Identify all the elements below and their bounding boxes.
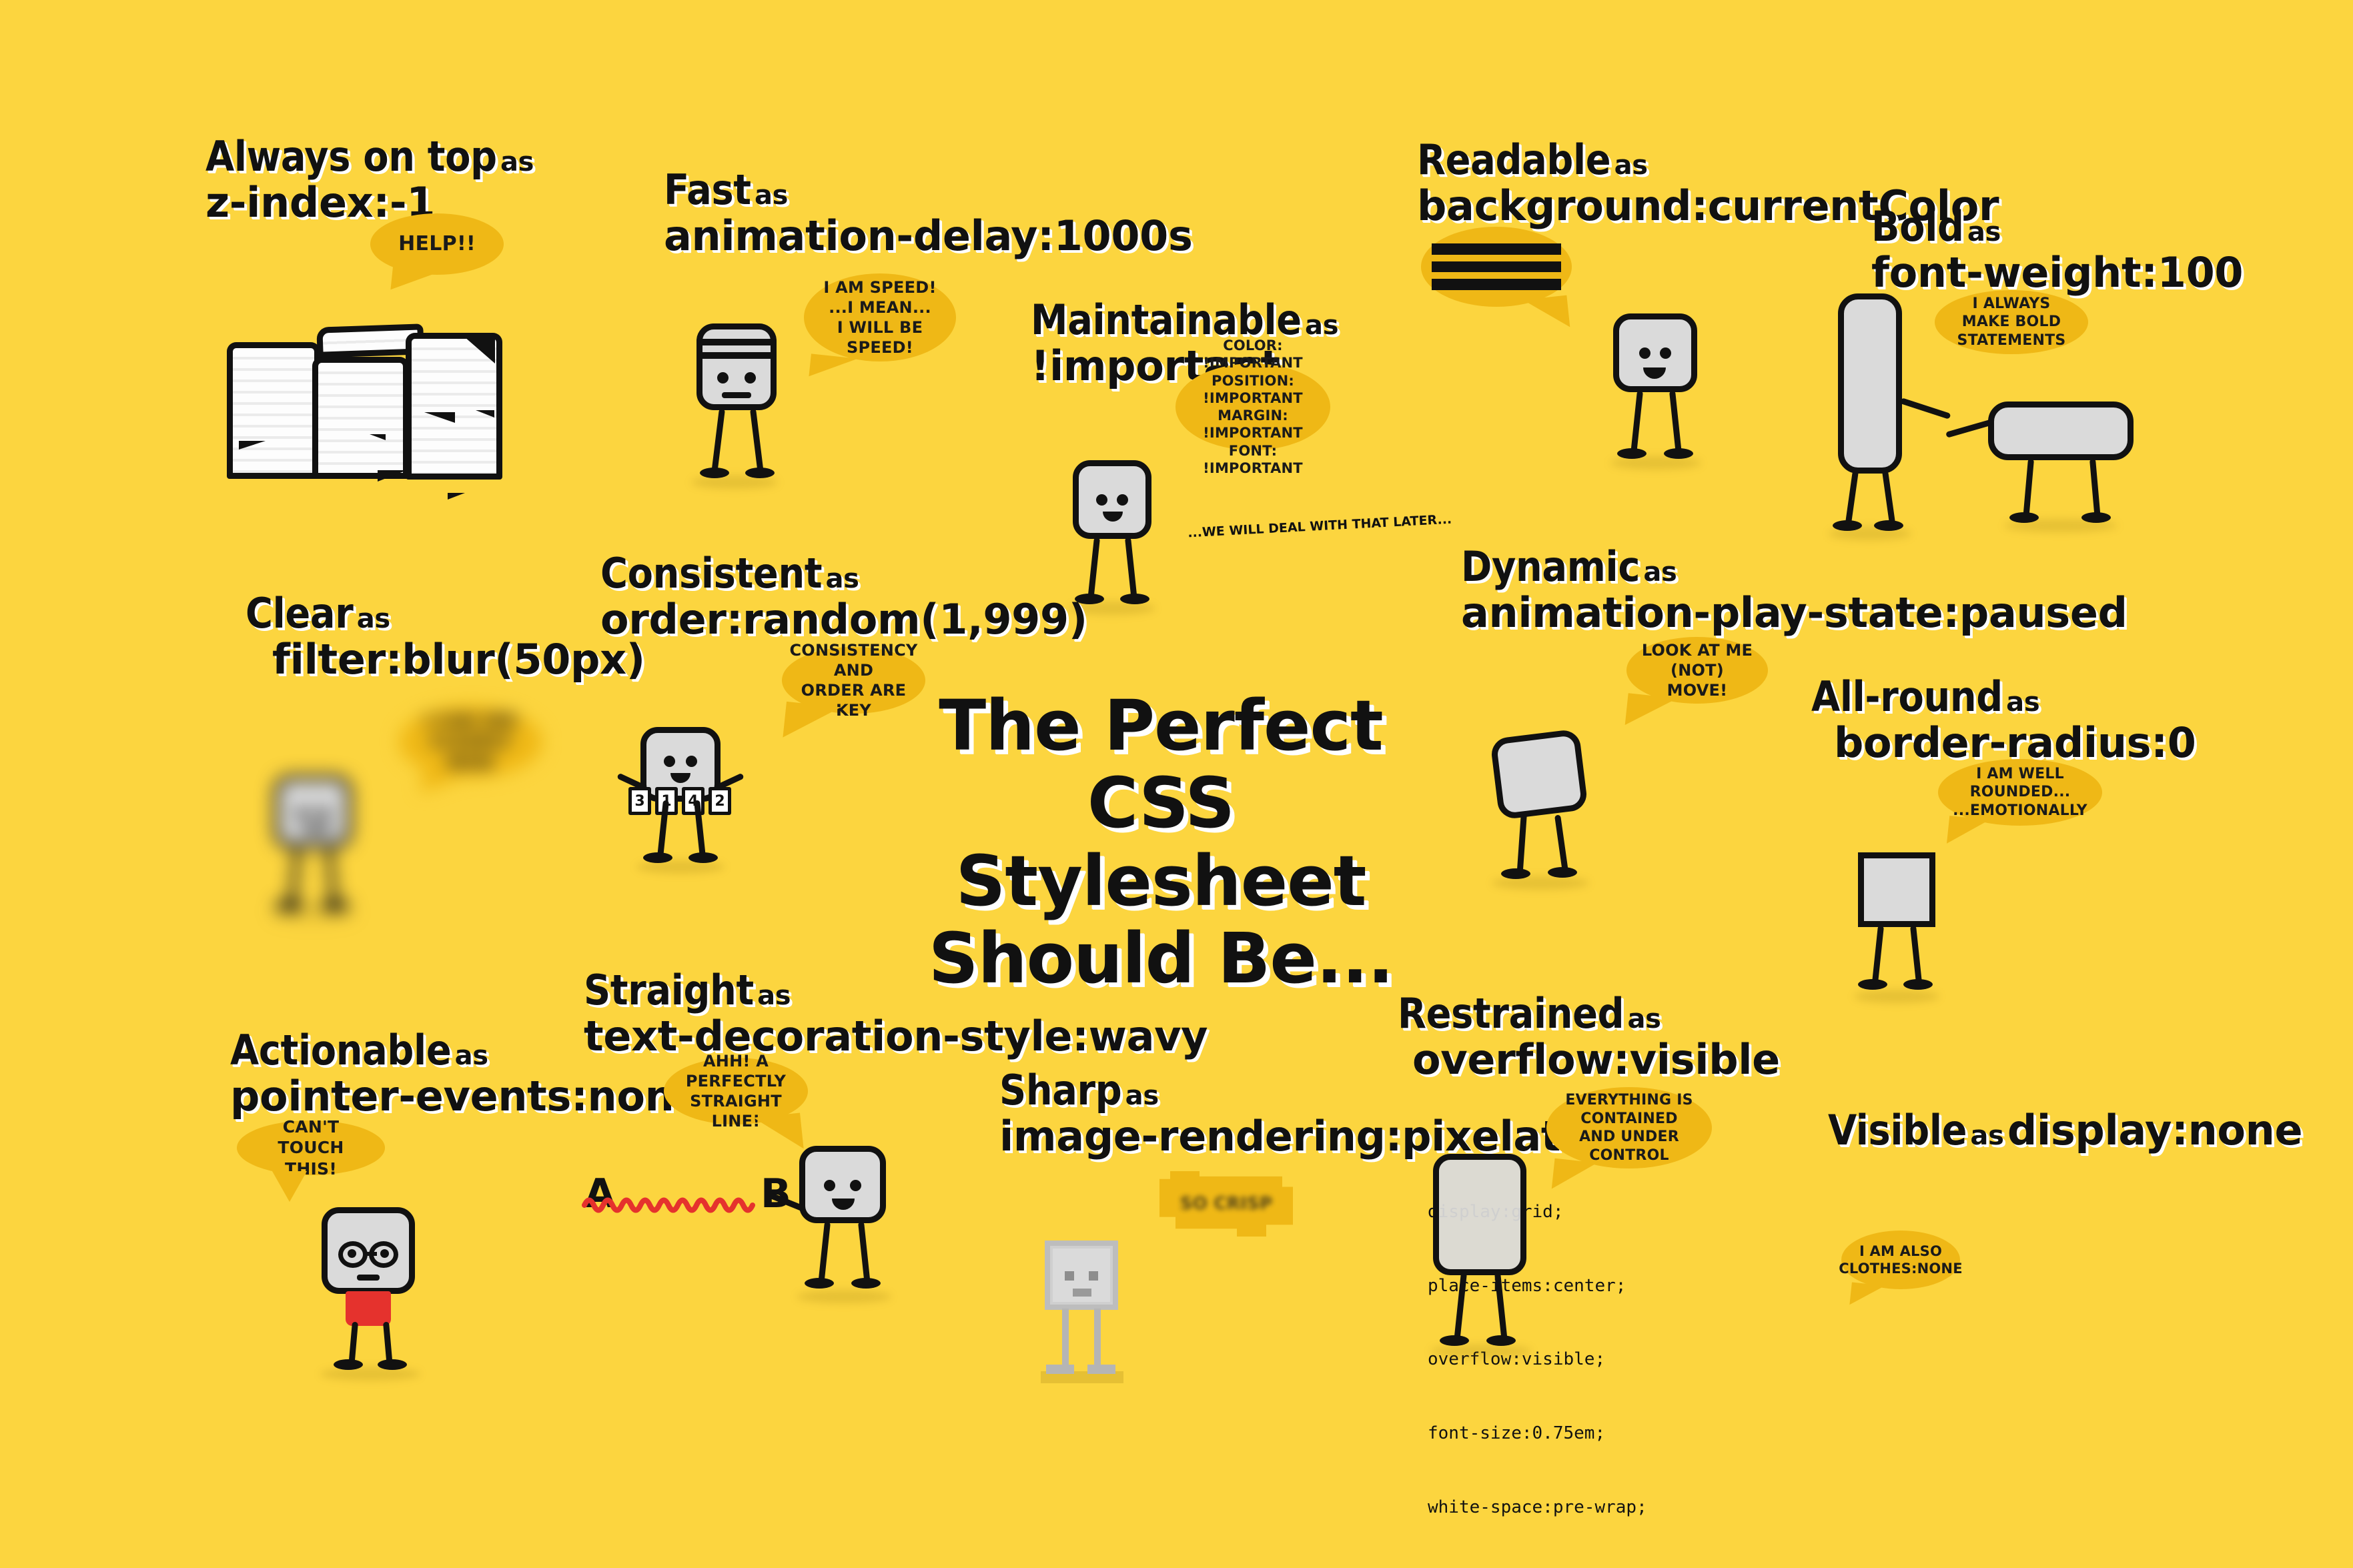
connector-label: as bbox=[2006, 687, 2039, 718]
bubble-actionable: Can't touch this! bbox=[237, 1120, 385, 1175]
heading-consistent: Consistent as order:random(1,999) bbox=[600, 550, 1087, 643]
right-leg bbox=[1910, 926, 1922, 984]
heading-visible: Visible as display:none bbox=[1828, 1107, 2302, 1153]
redaction-bar bbox=[1432, 243, 1561, 255]
bubble-line: statements bbox=[1957, 331, 2066, 350]
adjective-label: Bold bbox=[1871, 202, 1964, 251]
left-foot bbox=[1617, 448, 1646, 459]
adjective-label: Visible bbox=[1828, 1106, 1967, 1154]
left-foot bbox=[1833, 520, 1862, 531]
eye-triangle bbox=[476, 410, 494, 418]
bubble-tail bbox=[390, 267, 439, 294]
left-foot bbox=[1440, 1335, 1469, 1346]
character-body bbox=[1988, 402, 2134, 460]
bubble-line: font: !important bbox=[1185, 442, 1321, 478]
left-eye bbox=[664, 756, 675, 767]
speed-stripe bbox=[701, 339, 772, 345]
right-eye bbox=[1117, 494, 1128, 506]
eye-triangle bbox=[378, 470, 407, 482]
heading-clear: Clear as filter:blur(50px) bbox=[246, 590, 645, 683]
right-foot bbox=[1903, 979, 1933, 990]
ground-shadow bbox=[320, 1367, 420, 1381]
character-maintainable bbox=[1073, 460, 1151, 539]
connector-label: as bbox=[1628, 1004, 1661, 1034]
aside-maintainable: ...we will deal with that later... bbox=[1188, 512, 1452, 541]
heading-dynamic: Dynamic as animation-play-state:paused bbox=[1461, 544, 2128, 636]
property-label: filter:blur(50px) bbox=[272, 635, 645, 684]
right-foot bbox=[1120, 594, 1149, 604]
character-restrained bbox=[1433, 1154, 1526, 1275]
left-eye bbox=[1096, 494, 1107, 506]
character-body bbox=[322, 1207, 415, 1294]
bubble-line: So crisp bbox=[1180, 1193, 1273, 1215]
left-foot bbox=[1501, 868, 1530, 879]
character-body bbox=[1838, 293, 1902, 474]
bubble-tail bbox=[754, 1112, 804, 1153]
character-body bbox=[1073, 460, 1151, 539]
connector-label: as bbox=[1614, 150, 1648, 181]
left-leg bbox=[1630, 391, 1643, 454]
mouth bbox=[1643, 367, 1666, 379]
adjective-label: All-round bbox=[1811, 672, 2003, 721]
mouth bbox=[1860, 403, 1880, 413]
character-readable bbox=[1613, 313, 1697, 392]
character-body bbox=[1045, 1241, 1118, 1310]
title-line-2: CSS Stylesheet bbox=[894, 764, 1428, 920]
ground-shadow bbox=[1854, 990, 1939, 1003]
right-foot bbox=[1664, 448, 1693, 459]
left-eye bbox=[717, 372, 729, 383]
character-clear bbox=[274, 775, 352, 848]
left-leg bbox=[1872, 926, 1884, 984]
right-eye bbox=[380, 1249, 389, 1258]
mouth bbox=[1496, 742, 1519, 755]
right-leg bbox=[1554, 814, 1568, 874]
group-sharp-pixelated: So crisp bbox=[1034, 1167, 1314, 1394]
ground-shadow bbox=[1430, 1345, 1532, 1358]
adjective-label: Restrained bbox=[1398, 989, 1624, 1038]
left-foot bbox=[334, 1359, 363, 1370]
bubble-line: position: !important bbox=[1185, 372, 1321, 408]
left-eye bbox=[1065, 1271, 1074, 1281]
right-foot bbox=[851, 1278, 881, 1289]
character-bold-wide bbox=[1988, 402, 2134, 460]
mouth bbox=[1103, 512, 1123, 522]
bubble-readable bbox=[1421, 227, 1572, 307]
bubble-line: Can't touch this! bbox=[252, 1116, 370, 1179]
bubble-clear: I can see clearly now bbox=[399, 706, 542, 778]
left-eye bbox=[824, 1180, 835, 1191]
number-cards: 3 1 4 2 bbox=[628, 787, 731, 815]
bubble-tail bbox=[1947, 816, 1989, 848]
character-actionable bbox=[322, 1207, 415, 1294]
left-leg bbox=[1517, 812, 1527, 874]
group-clear-blurred: I can see clearly now bbox=[254, 694, 574, 920]
property-label: font-weight:100 bbox=[1871, 248, 2243, 297]
number-card: 3 bbox=[628, 787, 651, 815]
bubble-tail bbox=[1523, 295, 1570, 332]
character-dynamic bbox=[1494, 734, 1584, 815]
right-foot bbox=[688, 852, 718, 863]
mouth bbox=[1073, 1289, 1091, 1297]
right-foot bbox=[1874, 520, 1903, 531]
adjective-label: Dynamic bbox=[1461, 542, 1640, 591]
bubble-line: ...I mean... bbox=[829, 297, 931, 317]
connector-label: as bbox=[357, 604, 390, 634]
bubble-tail bbox=[783, 702, 841, 743]
mouth bbox=[722, 392, 751, 398]
right-leg bbox=[2089, 459, 2101, 518]
adjective-label: Readable bbox=[1417, 135, 1610, 184]
right-eye bbox=[745, 372, 756, 383]
code-line: white-space:pre-wrap; bbox=[1428, 1495, 1762, 1520]
heading-all-round: All-round as border-radius:0 bbox=[1811, 674, 2196, 766]
left-foot bbox=[700, 468, 729, 478]
code-line: font-size:0.75em; bbox=[1428, 1421, 1762, 1446]
right-leg bbox=[1094, 1309, 1101, 1369]
right-foot bbox=[1548, 867, 1577, 878]
property-label: pointer-events:none bbox=[230, 1072, 702, 1120]
bubble-line: clearly now bbox=[414, 731, 528, 773]
heading-fast: Fast as animation-delay:1000s bbox=[664, 167, 1193, 259]
connector-label: as bbox=[455, 1040, 488, 1071]
ground-shadow bbox=[1492, 876, 1589, 890]
ground-shadow bbox=[636, 860, 725, 874]
shorts bbox=[346, 1291, 391, 1326]
number-card: 4 bbox=[682, 787, 704, 815]
bubble-bold: I always make bold statements bbox=[1935, 290, 2088, 354]
bubble-line: HELP!! bbox=[398, 231, 476, 257]
bubble-all-round: I am well rounded... ...emotionally bbox=[1938, 759, 2102, 826]
left-arm bbox=[1945, 419, 1993, 438]
bubble-tail bbox=[272, 1171, 307, 1202]
character-paper-stack bbox=[227, 303, 507, 480]
character-all-round bbox=[1858, 852, 1935, 927]
bubble-fast: I am speed! ...I mean... I will be speed… bbox=[804, 273, 956, 361]
left-leg bbox=[1062, 1309, 1069, 1369]
right-foot bbox=[1087, 1365, 1115, 1374]
bubble-line: clothes:none bbox=[1839, 1260, 1963, 1277]
paper-left bbox=[227, 342, 320, 479]
corner-fold bbox=[464, 337, 495, 363]
right-foot bbox=[320, 900, 350, 911]
right-leg bbox=[1125, 538, 1137, 599]
right-eye bbox=[686, 756, 697, 767]
character-body bbox=[799, 1146, 886, 1223]
connector-label: as bbox=[755, 180, 788, 211]
left-foot bbox=[805, 1278, 834, 1289]
mouth bbox=[357, 1275, 380, 1281]
bubble-tail bbox=[1625, 693, 1678, 730]
adjective-label: Straight bbox=[584, 966, 754, 1014]
left-foot bbox=[1858, 979, 1887, 990]
right-leg bbox=[1882, 470, 1895, 525]
right-leg bbox=[858, 1222, 871, 1283]
right-foot bbox=[378, 1359, 407, 1370]
adjective-label: Sharp bbox=[999, 1066, 1121, 1114]
character-bold-tall bbox=[1838, 293, 1902, 474]
bubble-line: I am speed! bbox=[823, 277, 936, 297]
bubble-tail bbox=[421, 770, 470, 797]
bubble-sharp: So crisp bbox=[1159, 1171, 1293, 1237]
heading-straight: Straight as text-decoration-style:wavy bbox=[584, 967, 1208, 1060]
left-foot bbox=[1046, 1365, 1074, 1374]
property-label: text-decoration-style:wavy bbox=[584, 1012, 1208, 1060]
character-fast bbox=[696, 323, 777, 410]
right-arm bbox=[1900, 398, 1951, 420]
bubble-line: I always make bold bbox=[1949, 295, 2073, 331]
right-eye bbox=[850, 1180, 861, 1191]
connector-label: as bbox=[825, 564, 859, 594]
character-straight bbox=[799, 1146, 886, 1223]
right-eye bbox=[318, 808, 329, 819]
bubble-line: Everything is bbox=[1565, 1091, 1693, 1110]
bubble-line: I am well rounded... bbox=[1953, 765, 2087, 802]
bubble-tail bbox=[1850, 1282, 1885, 1308]
right-foot bbox=[745, 468, 775, 478]
left-leg bbox=[289, 847, 301, 906]
bubble-line: (not) move! bbox=[1641, 660, 1753, 700]
bubble-tail bbox=[809, 353, 858, 381]
mouth bbox=[832, 1199, 855, 1210]
adjective-label: Always on top bbox=[205, 132, 497, 181]
character-body bbox=[1858, 852, 1935, 927]
page-title: The Perfect CSS Stylesheet Should Be... bbox=[894, 687, 1428, 998]
redaction-bar bbox=[1432, 261, 1561, 273]
code-line: place-items:center; bbox=[1428, 1274, 1762, 1299]
connector-label: as bbox=[1643, 557, 1677, 588]
bubble-line: Consistency and bbox=[789, 640, 917, 680]
left-leg bbox=[711, 408, 725, 472]
wavy-line-graphic bbox=[582, 1191, 782, 1220]
bubble-always-on-top: HELP!! bbox=[370, 213, 504, 275]
aside-text: ...we will deal with that later... bbox=[1188, 512, 1452, 541]
right-leg bbox=[750, 408, 764, 472]
bubble-line: I will be speed! bbox=[819, 317, 941, 357]
character-body bbox=[1613, 313, 1697, 392]
property-label: animation-delay:1000s bbox=[664, 211, 1193, 260]
mouth bbox=[2053, 445, 2075, 456]
left-foot bbox=[2009, 512, 2039, 523]
speed-stripe bbox=[701, 352, 772, 359]
ground-shadow bbox=[797, 1290, 891, 1303]
mouth bbox=[1864, 858, 1884, 868]
bubble-line: Ahh! A perfectly bbox=[678, 1051, 793, 1091]
connector-label: as bbox=[757, 980, 791, 1011]
connector-label: as bbox=[1970, 1120, 2003, 1151]
bubble-line: margin: !important bbox=[1185, 407, 1321, 442]
right-eye bbox=[1660, 347, 1671, 359]
mouth bbox=[302, 826, 331, 832]
character-body bbox=[1490, 728, 1588, 820]
right-foot bbox=[1486, 1335, 1516, 1346]
left-leg bbox=[1087, 538, 1100, 599]
character-body bbox=[696, 323, 777, 410]
bubble-line: Look at me bbox=[1642, 640, 1753, 660]
right-foot bbox=[2081, 512, 2111, 523]
eye-triangle bbox=[424, 412, 455, 423]
eye-triangle bbox=[239, 441, 266, 450]
title-line-1: The Perfect bbox=[894, 687, 1428, 764]
left-eye bbox=[1639, 347, 1651, 359]
heading-always-on-top: Always on top as z-index:-1 bbox=[205, 133, 534, 226]
bubble-line: color: !important bbox=[1185, 337, 1321, 372]
property-label: display:none bbox=[2007, 1106, 2302, 1154]
heading-bold: Bold as font-weight:100 bbox=[1871, 203, 2243, 296]
property-label: overflow:visible bbox=[1412, 1035, 1780, 1084]
heading-restrained: Restrained as overflow:visible bbox=[1398, 990, 1780, 1083]
property-label: order:random(1,999) bbox=[600, 595, 1087, 644]
adjective-label: Fast bbox=[664, 165, 751, 214]
eye-triangle bbox=[448, 493, 465, 500]
left-foot bbox=[643, 852, 672, 863]
adjective-label: Consistent bbox=[600, 549, 822, 598]
mouth bbox=[670, 773, 690, 783]
character-body bbox=[1433, 1154, 1526, 1275]
right-eye bbox=[1089, 1271, 1098, 1281]
left-eye bbox=[348, 1249, 356, 1258]
adjective-label: Clear bbox=[246, 589, 353, 638]
number-card: 2 bbox=[709, 787, 731, 815]
left-foot bbox=[275, 900, 304, 911]
paper-center bbox=[312, 357, 409, 479]
eye-triangle bbox=[370, 434, 386, 440]
right-leg bbox=[326, 847, 338, 906]
bubble-visible: I am also clothes:none bbox=[1841, 1231, 1960, 1289]
left-leg bbox=[1845, 470, 1859, 525]
bubble-straight: Ahh! A perfectly straight line! bbox=[664, 1058, 808, 1124]
bubble-line: I can see bbox=[424, 710, 518, 731]
connector-label: as bbox=[500, 147, 534, 177]
bubble-dynamic: Look at me (not) move! bbox=[1626, 637, 1768, 704]
character-body bbox=[274, 775, 352, 848]
bubble-line: contained and under bbox=[1561, 1110, 1697, 1146]
bubble-line: ...emotionally bbox=[1953, 802, 2087, 820]
glasses-bridge bbox=[366, 1252, 377, 1256]
mouth bbox=[1439, 1160, 1462, 1171]
connector-label: as bbox=[1125, 1080, 1159, 1111]
redaction-bar bbox=[1432, 279, 1561, 290]
bubble-maintainable: color: !important position: !important m… bbox=[1175, 363, 1330, 450]
left-eye bbox=[297, 808, 308, 819]
left-leg bbox=[818, 1222, 831, 1283]
connector-label: as bbox=[1967, 217, 2001, 247]
left-leg bbox=[2023, 459, 2034, 518]
adjective-label: Actionable bbox=[230, 1026, 451, 1074]
infographic-canvas: Always on top as z-index:-1 HELP!! Fast … bbox=[0, 0, 2353, 1568]
bubble-line: I am also bbox=[1859, 1243, 1942, 1260]
property-label: animation-play-state:paused bbox=[1461, 588, 2128, 637]
right-leg bbox=[1669, 391, 1682, 454]
character-sharp bbox=[1045, 1241, 1118, 1310]
character-consistent: 3 1 4 2 bbox=[640, 727, 721, 802]
